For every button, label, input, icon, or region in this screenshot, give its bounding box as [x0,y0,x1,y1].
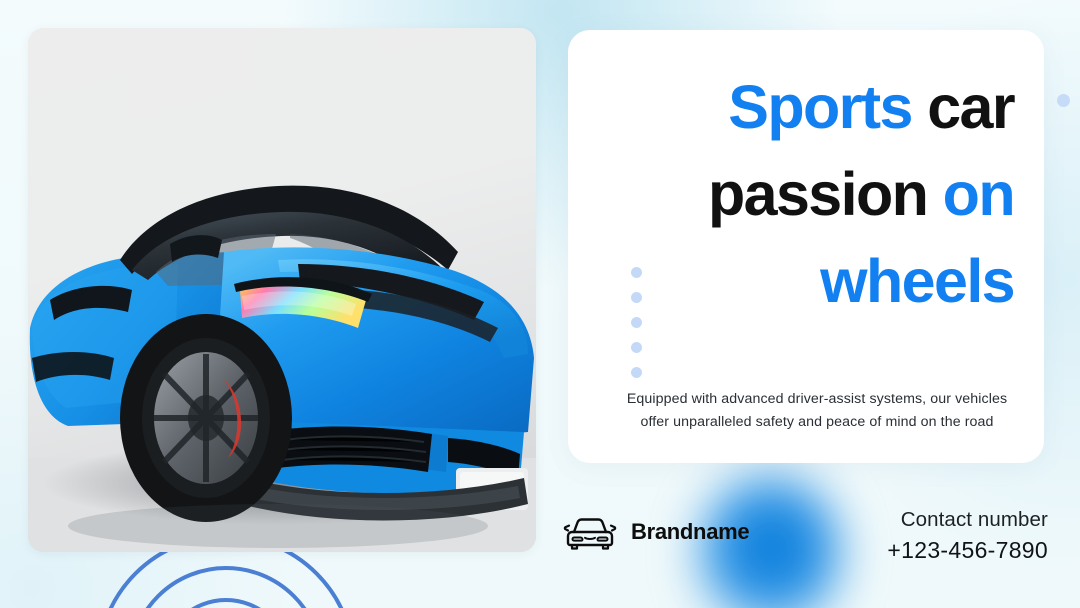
right-edge-dot [1057,94,1070,107]
bullet-dot [631,342,642,353]
headline-word-on: on [943,160,1014,228]
bullet-dot [631,292,642,303]
page-headline: Sports car passion on wheels [592,64,1014,325]
headline-line-1: Sports car [592,64,1014,151]
bullet-dot [631,367,642,378]
body-paragraph: Equipped with advanced driver-assist sys… [612,388,1022,434]
brand-lockup[interactable]: Brandname [562,512,749,552]
headline-word-car: car [927,73,1014,141]
headline-word-wheels: wheels [820,247,1014,315]
contact-block: Contact number +123-456-7890 [887,505,1048,566]
brand-name-label: Brandname [631,519,749,545]
contact-label: Contact number [887,505,1048,535]
headline-word-sports: Sports [728,73,912,141]
headline-line-2: passion on [592,151,1014,238]
headline-word-passion: passion [708,160,927,228]
contact-number[interactable]: +123-456-7890 [887,535,1048,566]
bullet-dots-decoration [631,267,642,378]
car-front-icon [562,512,618,552]
content-card: Sports car passion on wheels Equipped wi… [568,30,1044,463]
bullet-dot [631,267,642,278]
bullet-dot [631,317,642,328]
poster-canvas: Sports car passion on wheels Equipped wi… [0,0,1080,608]
headline-line-3: wheels [592,238,1014,325]
hero-car-photo [28,28,536,552]
